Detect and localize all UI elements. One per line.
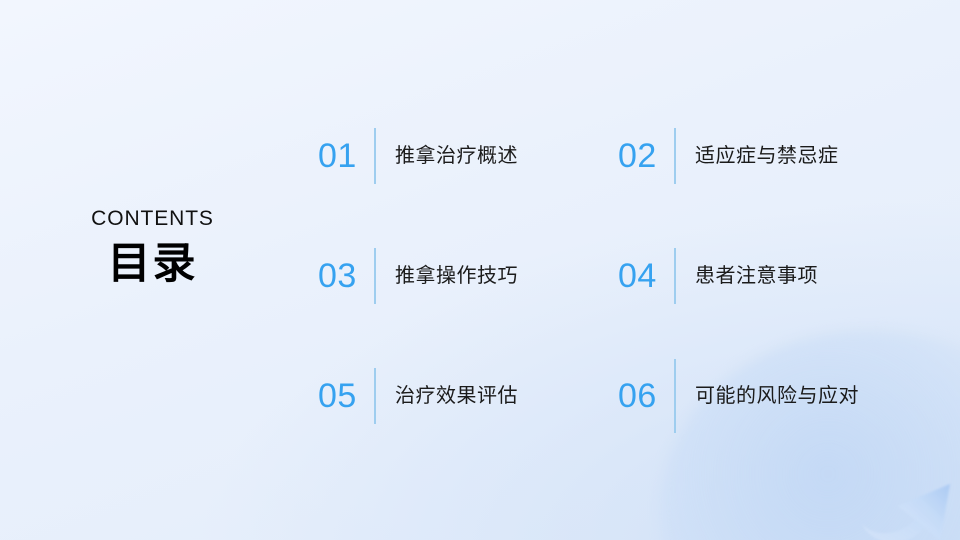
toc-number: 01 [318, 139, 374, 173]
contents-label: CONTENTS [0, 206, 305, 232]
toc-label: 推拿治疗概述 [395, 141, 518, 172]
toc-divider [374, 248, 376, 304]
toc-number: 04 [618, 259, 674, 293]
toc-number: 03 [318, 259, 374, 293]
toc-number: 05 [318, 379, 374, 413]
toc-divider [674, 248, 676, 304]
toc-divider [374, 128, 376, 184]
toc-divider [674, 359, 676, 433]
page-title: 目录 [0, 241, 305, 288]
toc-item-06[interactable]: 06 可能的风险与应对 [618, 335, 918, 455]
toc-label: 适应症与禁忌症 [695, 141, 839, 172]
toc-item-03[interactable]: 03 推拿操作技巧 [318, 215, 618, 335]
toc-item-05[interactable]: 05 治疗效果评估 [318, 335, 618, 455]
toc-label: 可能的风险与应对 [695, 381, 859, 412]
toc-divider [374, 368, 376, 424]
toc-label: 治疗效果评估 [395, 381, 518, 412]
toc-item-04[interactable]: 04 患者注意事项 [618, 215, 918, 335]
toc-item-01[interactable]: 01 推拿治疗概述 [318, 95, 618, 215]
slide-title-block: CONTENTS 目录 [0, 206, 305, 289]
presentation-slide: CONTENTS 目录 01 推拿治疗概述 02 适应症与禁忌症 03 推拿操作… [0, 0, 960, 540]
toc-label: 推拿操作技巧 [395, 261, 518, 292]
table-of-contents: 01 推拿治疗概述 02 适应症与禁忌症 03 推拿操作技巧 04 患者注意事项… [318, 95, 918, 455]
toc-divider [674, 128, 676, 184]
toc-label: 患者注意事项 [695, 261, 818, 292]
curved-arrow-icon [858, 452, 960, 540]
toc-number: 02 [618, 139, 674, 173]
toc-item-02[interactable]: 02 适应症与禁忌症 [618, 95, 918, 215]
toc-number: 06 [618, 379, 674, 413]
